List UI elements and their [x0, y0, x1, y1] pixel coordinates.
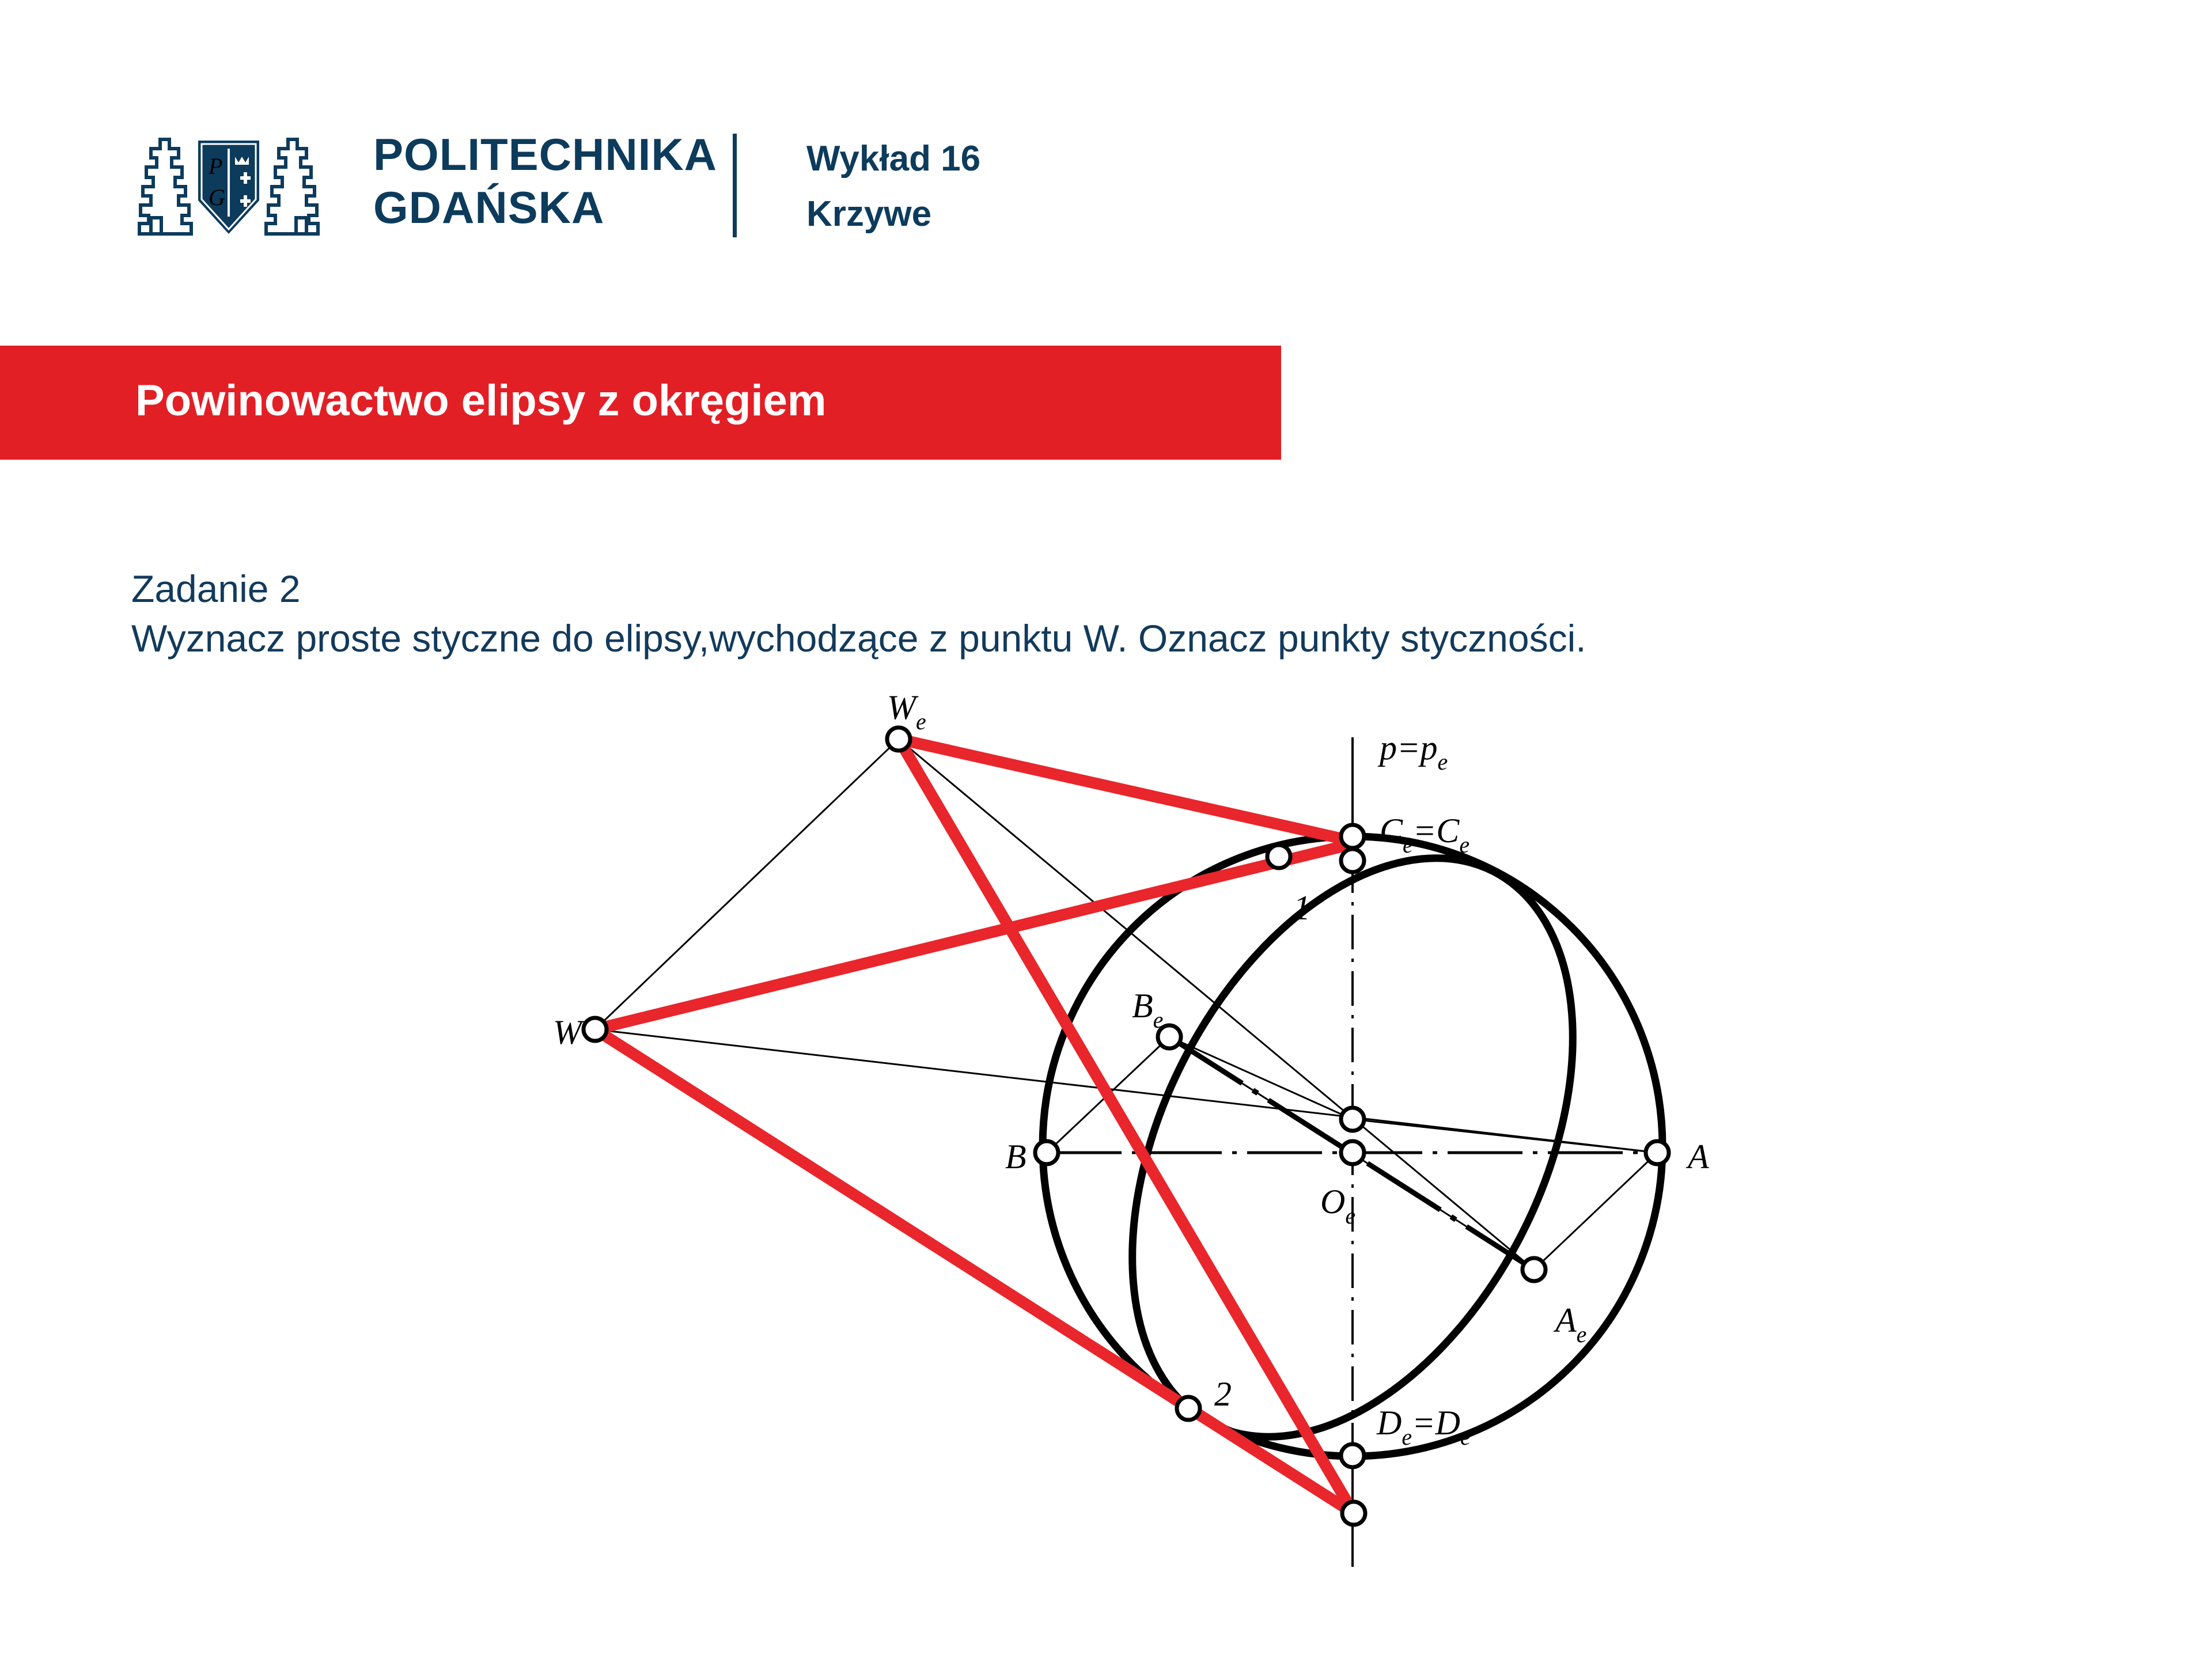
figure-labels: We W p=pe Ce=Ce 1 Be B Oe A Ae 2 De=De	[553, 688, 1709, 1450]
point-Ce	[1341, 825, 1364, 848]
label-De-main2: =D	[1412, 1404, 1460, 1442]
label-Be-sub: e	[1153, 1007, 1164, 1033]
label-We-main: W	[887, 688, 919, 726]
construction-w-we	[595, 739, 899, 1029]
lecture-topic: Krzywe	[806, 187, 980, 242]
institution-line-2: GDAŃSKA	[373, 181, 717, 234]
point-V	[1342, 1502, 1365, 1525]
point-2	[1177, 1397, 1200, 1420]
tangent-we-ce	[899, 739, 1353, 841]
tangent-w-two	[595, 1029, 1354, 1513]
construction-x-a	[1353, 1119, 1657, 1153]
point-We	[887, 728, 910, 751]
label-Oe-sub: e	[1345, 1203, 1355, 1229]
label-1: 1	[1293, 889, 1310, 927]
pg-crest-logo: P G	[134, 131, 324, 241]
label-W: W	[553, 1013, 585, 1051]
point-De	[1341, 1444, 1364, 1467]
point-W	[584, 1018, 607, 1041]
label-Oe: Oe	[1320, 1183, 1355, 1229]
point-Ae	[1522, 1258, 1546, 1281]
label-De-De: De=De	[1376, 1404, 1471, 1450]
label-p-pe-sub: e	[1438, 749, 1448, 775]
crest-letter-g: G	[209, 184, 225, 210]
label-De-main: D	[1376, 1404, 1402, 1442]
point-Oe	[1341, 1141, 1364, 1164]
figure-svg: We W p=pe Ce=Ce 1 Be B Oe A Ae 2 De=De	[0, 680, 2212, 1659]
label-Oe-main: O	[1320, 1183, 1345, 1221]
task-text: Zadanie 2 Wyznacz proste styczne do elip…	[131, 565, 2090, 664]
label-Be: Be	[1132, 987, 1163, 1033]
point-1	[1267, 845, 1290, 868]
label-Ae-main: A	[1553, 1301, 1577, 1339]
label-De-sub: e	[1402, 1424, 1412, 1450]
task-heading: Zadanie 2	[131, 565, 2090, 614]
label-Ae: Ae	[1553, 1301, 1586, 1347]
lecture-info: Wykład 16 Krzywe	[806, 131, 980, 242]
slide-header: P G POLITECHNIKA GDAŃSKA Wykład 16 Krzyw…	[0, 0, 2212, 288]
point-X	[1341, 1108, 1364, 1131]
crest-letter-p: P	[208, 153, 222, 179]
label-Ce-main: C	[1380, 812, 1403, 850]
label-p-pe-main: p=p	[1377, 729, 1438, 767]
label-Be-main: B	[1132, 987, 1153, 1025]
label-Ce-main2: =C	[1413, 812, 1460, 850]
point-B	[1035, 1141, 1058, 1164]
label-Ce-sub2: e	[1459, 832, 1469, 858]
label-p-pe: p=pe	[1377, 729, 1448, 775]
institution-name: POLITECHNIKA GDAŃSKA	[373, 128, 717, 234]
label-A: A	[1685, 1138, 1709, 1176]
label-Ae-sub: e	[1577, 1321, 1587, 1347]
label-De-sub2: e	[1460, 1424, 1471, 1450]
lecture-number: Wykład 16	[806, 131, 980, 187]
label-We-sub: e	[916, 709, 926, 734]
institution-line-1: POLITECHNIKA	[373, 128, 717, 181]
point-C	[1341, 849, 1364, 872]
point-A	[1646, 1141, 1669, 1164]
label-Ce-sub: e	[1403, 832, 1413, 858]
task-description: Wyznacz proste styczne do elipsy,wychodz…	[131, 614, 2090, 664]
label-B: B	[1005, 1138, 1027, 1176]
section-banner: Powinowactwo elipsy z okręgiem	[0, 346, 1281, 460]
header-divider	[733, 134, 737, 237]
section-title: Powinowactwo elipsy z okręgiem	[135, 376, 826, 426]
geometry-figure: We W p=pe Ce=Ce 1 Be B Oe A Ae 2 De=De	[0, 680, 2212, 1659]
label-2: 2	[1214, 1375, 1232, 1413]
